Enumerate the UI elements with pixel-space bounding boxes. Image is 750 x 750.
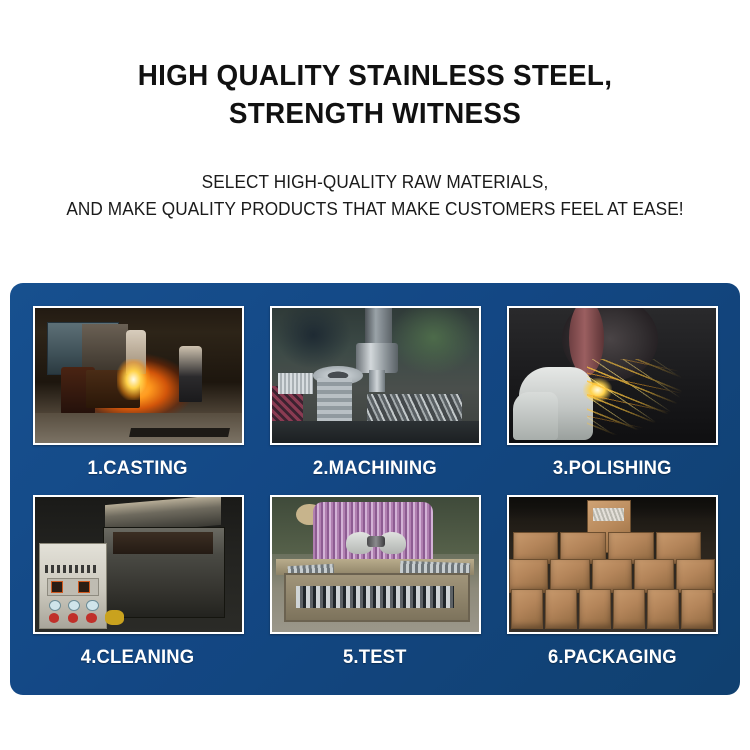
gauge-display-left [51,581,63,594]
photo-frame-casting [33,306,244,445]
process-step-caption: 4.CLEANING [81,647,195,669]
machine-bed-shape [272,421,479,443]
process-step-caption: 2.MACHINING [313,458,437,480]
push-button-1 [49,613,59,622]
photo-frame-cleaning [33,495,244,634]
chuck-shape [356,343,397,373]
page-subtitle: SELECT HIGH-QUALITY RAW MATERIALS, AND M… [26,169,724,222]
grinding-wheel-sparks-photo [509,308,716,443]
page-title: HIGH QUALITY STAINLESS STEEL, STRENGTH W… [15,58,735,133]
molten-glow-shape [117,359,150,400]
page-subtitle-line-1: SELECT HIGH-QUALITY RAW MATERIALS, [202,171,549,192]
carton-box [511,589,543,629]
glove-hand-second-shape [513,392,559,441]
cabinet-label-shape [45,565,99,573]
process-step-caption: 5.TEST [343,647,407,669]
process-step-caption: 1.CASTING [88,458,188,480]
white-crate-shape [278,373,313,395]
photo-frame-test [270,495,481,634]
push-button-2 [68,613,78,622]
striped-shirt-shape [313,502,433,559]
banner-header: HIGH QUALITY STAINLESS STEEL, STRENGTH W… [0,0,750,222]
spark-spray-shape [587,359,715,437]
photo-frame-polishing [507,306,718,445]
page-title-line-1: HIGH QUALITY STAINLESS STEEL, [138,60,612,92]
ultrasonic-cleaning-tank-photo [35,497,242,632]
process-step-casting: 1.CASTING [28,306,248,485]
parts-slot-shape [296,586,453,608]
process-step-caption: 3.POLISHING [553,458,672,480]
worker-right-shape [179,346,202,403]
page-subtitle-line-2: AND MAKE QUALITY PRODUCTS THAT MAKE CUST… [26,196,724,222]
process-steps-panel: 1.CASTING [10,283,740,695]
tank-interior-shape [113,532,212,554]
box-row-top [513,532,712,562]
carton-box [613,589,645,629]
cnc-lathe-machining-part-photo [272,308,479,443]
process-step-caption: 6.PACKAGING [548,647,677,669]
process-step-test: 5.TEST [265,495,485,674]
push-button-3 [86,613,96,622]
process-step-packaging: 6.PACKAGING [502,495,722,674]
carton-box [545,589,577,629]
inspected-part-shape [367,536,386,547]
foundry-molten-metal-pour-photo [35,308,242,443]
carton-box [579,589,611,629]
process-steps-grid: 1.CASTING [28,306,722,674]
worker-inspecting-parts-photo [272,497,479,632]
page-title-line-2: STRENGTH WITNESS [15,96,735,134]
photo-frame-machining [270,306,481,445]
cutting-tool-shape [369,370,386,392]
box-row-middle [509,559,716,591]
process-step-cleaning: 4.CLEANING [28,495,248,674]
carton-box [647,589,679,629]
box-row-bottom [511,589,714,627]
gauge-display-right [78,581,90,594]
indicator-lamp-2 [68,600,80,611]
indicator-lamp-3 [86,600,98,611]
process-step-polishing: 3.POLISHING [502,306,722,485]
yellow-bucket-shape [105,610,124,625]
metal-chips-shape [367,394,462,424]
stacked-cardboard-boxes-photo [509,497,716,632]
floor-rail-shape [129,428,230,437]
carton-box [681,589,713,629]
product-process-banner: HIGH QUALITY STAINLESS STEEL, STRENGTH W… [0,0,750,750]
bubble-wrap-shape [593,508,624,522]
process-step-machining: 2.MACHINING [265,306,485,485]
photo-frame-packaging [507,495,718,634]
